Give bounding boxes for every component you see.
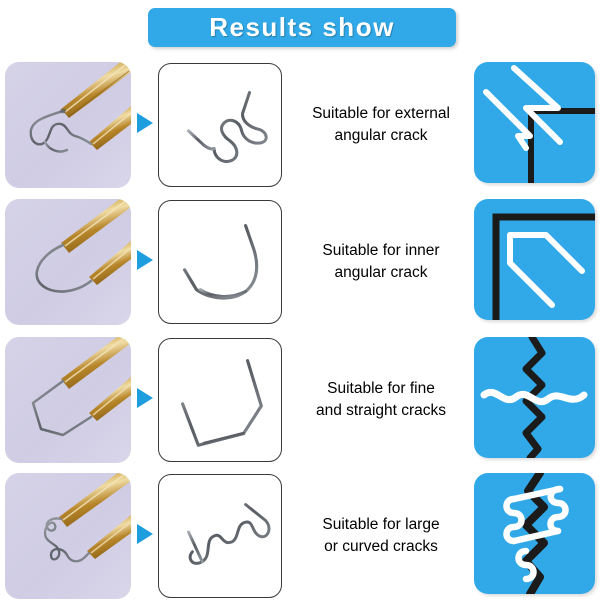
photo-tile-2 — [5, 199, 131, 325]
flat-square-staple — [33, 381, 91, 435]
icon-tile-1 — [474, 62, 595, 183]
product-tile-1 — [158, 63, 282, 187]
icon-tile-4 — [474, 473, 595, 594]
photo-tile-3 — [5, 337, 131, 463]
caption-1-line2: angular crack — [334, 127, 427, 144]
caption-3: Suitable for fine and straight cracks — [292, 337, 470, 463]
gold-rod-upper — [61, 199, 131, 253]
white-diagonal-crack — [510, 235, 582, 305]
wave-staple — [31, 111, 91, 152]
caption-3-line1: Suitable for fine — [327, 380, 435, 397]
result-row-1: Suitable for external angular crack — [0, 62, 600, 188]
header-banner: Results show — [148, 8, 456, 47]
caption-2-line1: Suitable for inner — [322, 242, 439, 259]
infographic-page: Results show — [0, 0, 600, 600]
result-row-3: Suitable for fine and straight cracks — [0, 337, 600, 463]
result-row-4: Suitable for large or curved cracks — [0, 473, 600, 599]
u-staple — [37, 245, 91, 292]
white-zigzag-crack — [486, 68, 560, 148]
flat-square-staple-shape — [183, 361, 262, 446]
gold-rod-lower — [87, 515, 131, 559]
gold-rod-lower — [89, 241, 131, 285]
arrow-right-triangle-icon — [136, 112, 154, 134]
product-tile-2 — [158, 200, 282, 324]
icon-tile-2 — [474, 199, 595, 320]
spiral-staple-shape — [189, 505, 269, 564]
icon-tile-3 — [474, 337, 595, 458]
page-title: Results show — [209, 12, 395, 43]
caption-2: Suitable for inner angular crack — [292, 199, 470, 325]
arrow-right-triangle-icon — [136, 523, 154, 545]
caption-4-line2: or curved cracks — [324, 538, 438, 555]
gold-rod-lower — [89, 106, 131, 150]
u-staple-shape — [185, 226, 257, 298]
wave-staple-shape — [189, 93, 267, 162]
arrow-right-triangle-icon — [136, 249, 154, 271]
caption-2-line2: angular crack — [334, 264, 427, 281]
caption-3-line2: and straight cracks — [316, 402, 446, 419]
arrow-right-triangle-icon — [136, 387, 154, 409]
caption-4-line1: Suitable for large — [322, 516, 439, 533]
caption-4: Suitable for large or curved cracks — [292, 473, 470, 599]
gold-rod-upper — [61, 62, 131, 118]
photo-tile-4 — [5, 473, 131, 599]
photo-tile-1 — [5, 62, 131, 188]
product-tile-4 — [158, 474, 282, 598]
gold-rod-upper — [61, 337, 131, 389]
caption-1-line1: Suitable for external — [312, 105, 450, 122]
gold-rod-lower — [89, 377, 131, 421]
gold-rod-upper — [59, 473, 131, 527]
product-tile-3 — [158, 338, 282, 462]
result-row-2: Suitable for inner angular crack — [0, 199, 600, 325]
caption-1: Suitable for external angular crack — [292, 62, 470, 188]
